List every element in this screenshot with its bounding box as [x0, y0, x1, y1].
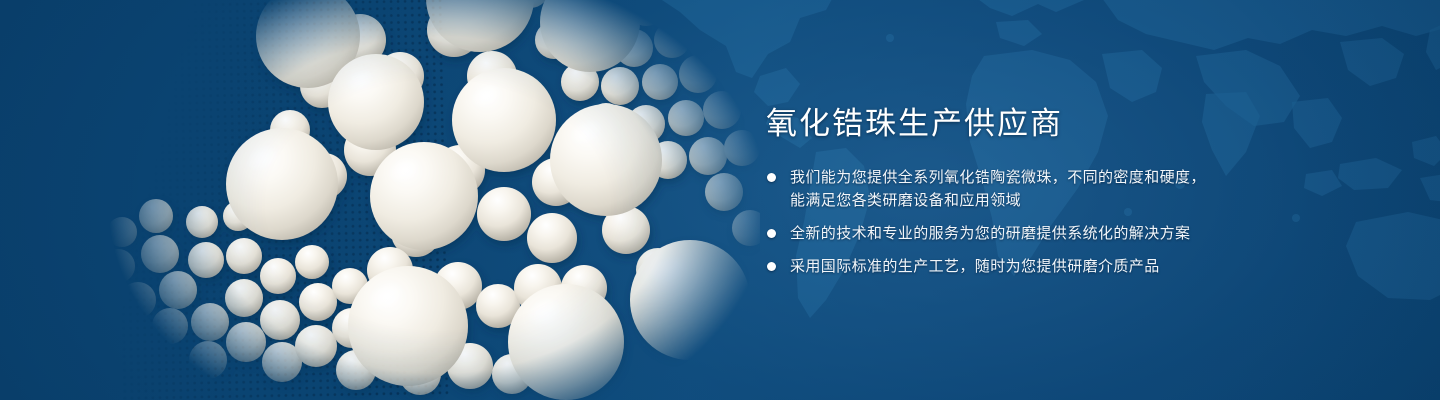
feature-bullet-item: 采用国际标准的生产工艺，随时为您提供研磨介质产品	[764, 255, 1234, 278]
bullet-line: 采用国际标准的生产工艺，随时为您提供研磨介质产品	[790, 255, 1234, 278]
bullet-line: 能满足您各类研磨设备和应用领域	[790, 189, 1234, 212]
hero-banner: 氧化锆珠生产供应商 我们能为您提供全系列氧化锆陶瓷微珠，不同的密度和硬度， 能满…	[0, 0, 1440, 400]
bullet-dot-icon	[767, 229, 776, 238]
bullet-line: 全新的技术和专业的服务为您的研磨提供系统化的解决方案	[790, 222, 1234, 245]
bullet-dot-icon	[767, 173, 776, 182]
bullet-dot-icon	[767, 262, 776, 271]
banner-headline: 氧化锆珠生产供应商	[766, 104, 1234, 144]
banner-copy: 氧化锆珠生产供应商 我们能为您提供全系列氧化锆陶瓷微珠，不同的密度和硬度， 能满…	[764, 104, 1234, 278]
feature-bullet-item: 全新的技术和专业的服务为您的研磨提供系统化的解决方案	[764, 222, 1234, 245]
feature-bullet-item: 我们能为您提供全系列氧化锆陶瓷微珠，不同的密度和硬度， 能满足您各类研磨设备和应…	[764, 166, 1234, 212]
bullet-line: 我们能为您提供全系列氧化锆陶瓷微珠，不同的密度和硬度，	[790, 166, 1234, 189]
feature-bullet-list: 我们能为您提供全系列氧化锆陶瓷微珠，不同的密度和硬度， 能满足您各类研磨设备和应…	[764, 166, 1234, 278]
